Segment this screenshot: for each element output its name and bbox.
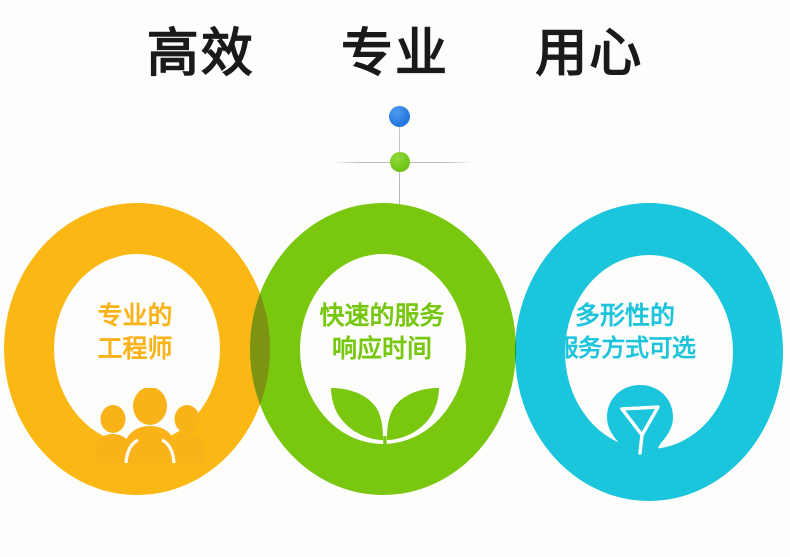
circle-label-orange: 专业的 工程师 — [35, 300, 235, 365]
circle-label-cyan-line2: 服务方式可选 — [515, 333, 735, 364]
team-people-icon — [95, 388, 205, 463]
circle-label-cyan-line1: 多形性的 — [515, 300, 735, 333]
circle-label-green-line2: 响应时间 — [277, 333, 487, 366]
sprout-leaf-icon — [325, 382, 445, 477]
circle-label-green-line1: 快速的服务 — [277, 300, 487, 333]
lightbulb-icon — [600, 383, 680, 473]
circle-label-green: 快速的服务 响应时间 — [277, 300, 487, 365]
circle-label-orange-line2: 工程师 — [35, 333, 235, 366]
circle-label-orange-line1: 专业的 — [35, 300, 235, 333]
circle-label-cyan: 多形性的 服务方式可选 — [515, 300, 735, 364]
poster-canvas: 高效 专业 用心 — [0, 0, 790, 557]
